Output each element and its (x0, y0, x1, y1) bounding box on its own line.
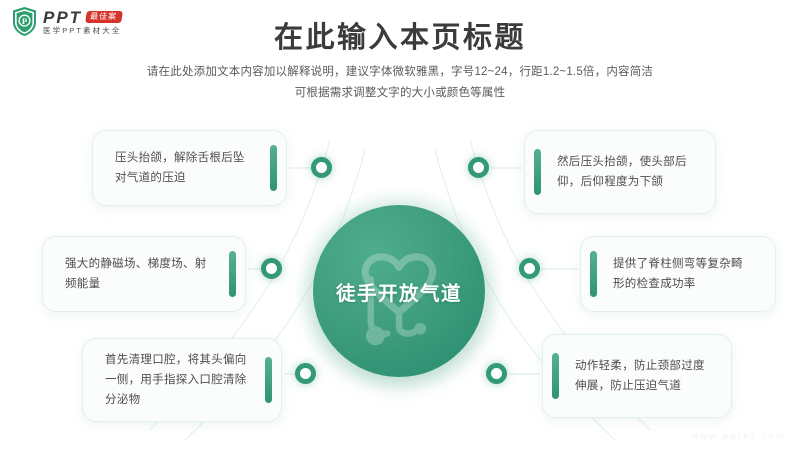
connector-node-bottom-right[interactable] (486, 363, 507, 384)
callout-text: 首先清理口腔，将其头偏向一侧，用手指探入口腔清除分泌物 (105, 350, 251, 410)
callout-box-top-right[interactable]: 然后压头抬颌，使头部后仰，后仰程度为下颌 (524, 130, 716, 214)
connector-node-bottom-left[interactable] (295, 363, 316, 384)
connector-node-top-left[interactable] (311, 157, 332, 178)
callout-text: 动作轻柔，防止颈部过度伸展，防止压迫气道 (575, 356, 709, 396)
center-circle[interactable]: 徒手开放气道 (313, 205, 485, 377)
subtitle-line-2: 可根据需求调整文字的大小或颜色等属性 (95, 83, 705, 104)
callout-text: 提供了脊柱侧弯等复杂畸形的检查成功率 (613, 254, 753, 294)
callout-text: 压头抬颌，解除舌根后坠对气道的压迫 (115, 148, 256, 188)
connector-node-mid-right[interactable] (519, 258, 540, 279)
subtitle-line-1: 请在此处添加文本内容加以解释说明，建议字体微软雅黑，字号12~24，行距1.2~… (95, 62, 705, 83)
callout-box-top-left[interactable]: 压头抬颌，解除舌根后坠对气道的压迫 (92, 130, 287, 206)
accent-bar (590, 251, 597, 297)
center-label: 徒手开放气道 (336, 277, 462, 306)
callout-text: 强大的静磁场、梯度场、射频能量 (65, 254, 215, 294)
accent-bar (229, 251, 236, 297)
accent-bar (552, 353, 559, 399)
connector-node-top-right[interactable] (468, 157, 489, 178)
watermark: www.ppter.com (691, 431, 786, 441)
callout-box-mid-right[interactable]: 提供了脊柱侧弯等复杂畸形的检查成功率 (580, 236, 776, 312)
page-subtitle: 请在此处添加文本内容加以解释说明，建议字体微软雅黑，字号12~24，行距1.2~… (95, 62, 705, 105)
page-title: 在此输入本页标题 (0, 14, 800, 56)
connector-node-mid-left[interactable] (261, 258, 282, 279)
accent-bar (534, 149, 541, 195)
callout-box-mid-left[interactable]: 强大的静磁场、梯度场、射频能量 (42, 236, 246, 312)
callout-text: 然后压头抬颌，使头部后仰，后仰程度为下颌 (557, 152, 693, 192)
callout-box-bottom-left[interactable]: 首先清理口腔，将其头偏向一侧，用手指探入口腔清除分泌物 (82, 338, 282, 422)
callout-box-bottom-right[interactable]: 动作轻柔，防止颈部过度伸展，防止压迫气道 (542, 334, 732, 418)
accent-bar (265, 357, 272, 403)
accent-bar (270, 145, 277, 191)
